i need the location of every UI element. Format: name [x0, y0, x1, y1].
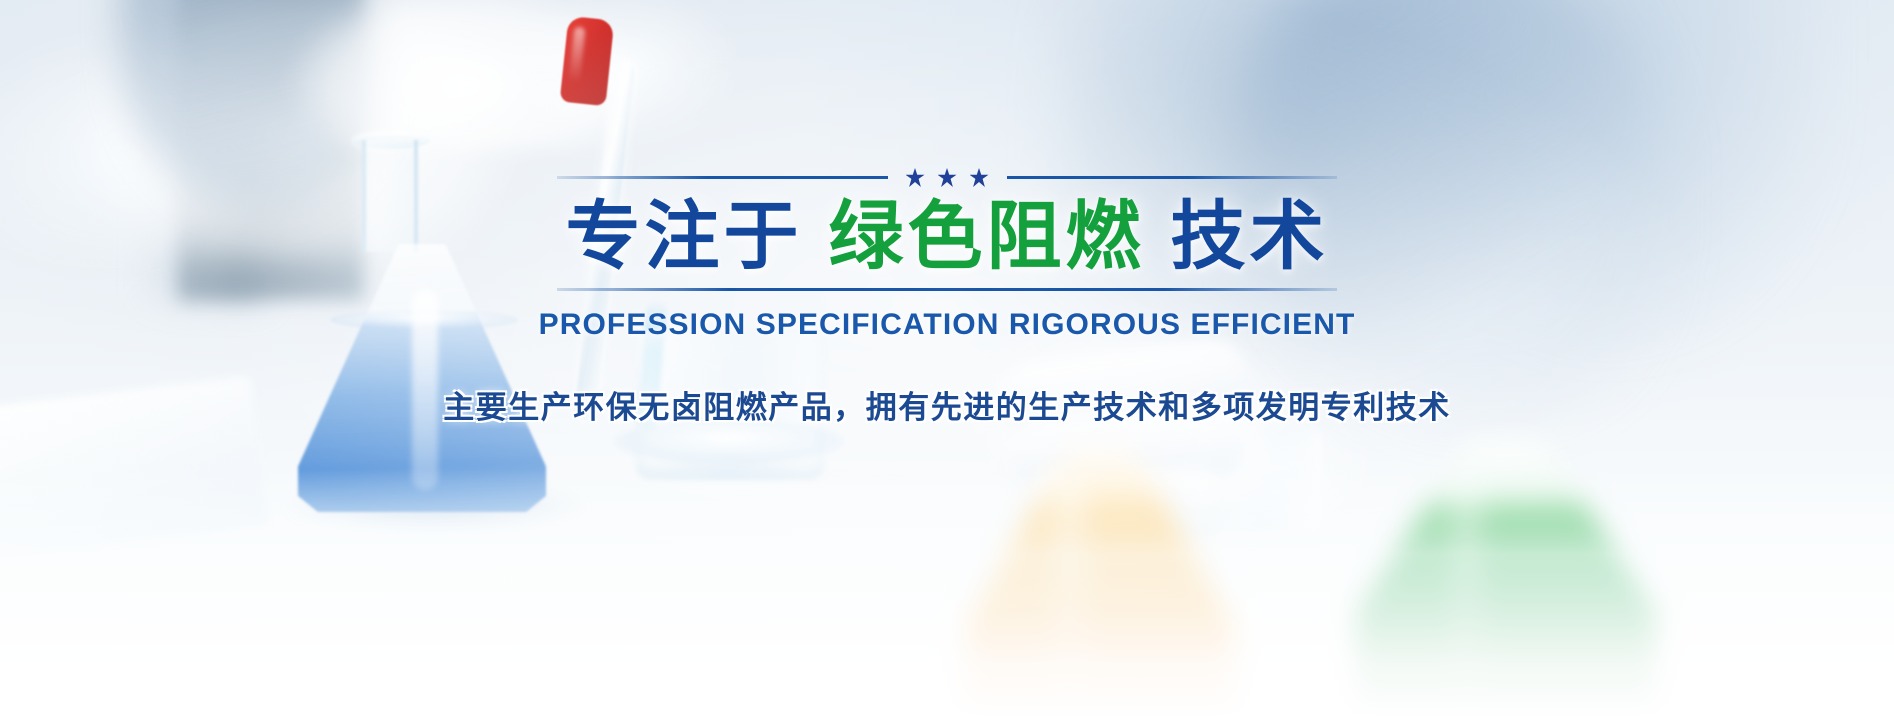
- divider-line-bottom: [557, 288, 1337, 291]
- pipette-red-bulb-icon: [560, 16, 615, 106]
- banner-content: 专注于绿色阻燃技术 PROFESSION SPECIFICATION RIGOR…: [0, 168, 1894, 427]
- divider-line-right: [1007, 176, 1338, 179]
- flask-orange-body: [966, 440, 1234, 719]
- headline-part-2: 绿色阻燃: [828, 194, 1144, 278]
- gloved-hand-top: [250, 0, 770, 150]
- subtitle-english: PROFESSION SPECIFICATION RIGOROUS EFFICI…: [0, 308, 1894, 342]
- star-group: [906, 168, 989, 187]
- flask-orange-highlight: [1054, 480, 1086, 710]
- headline-part-1: 专注于: [565, 194, 802, 278]
- star-icon: [906, 168, 925, 187]
- divider-line-left: [557, 176, 888, 179]
- star-icon: [970, 168, 989, 187]
- erlenmeyer-flask-orange: [966, 440, 1234, 719]
- divider-with-stars: [557, 168, 1337, 187]
- flask-green-body: [1356, 440, 1656, 719]
- erlenmeyer-flask-green: [1356, 440, 1656, 719]
- tagline-chinese: 主要生产环保无卤阻燃产品，拥有先进的生产技术和多项发明专利技术: [0, 382, 1894, 427]
- page-title: 专注于绿色阻燃技术: [0, 199, 1894, 274]
- hero-banner: 专注于绿色阻燃技术 PROFESSION SPECIFICATION RIGOR…: [0, 0, 1894, 719]
- headline-part-3: 技术: [1171, 194, 1329, 278]
- star-icon: [938, 168, 957, 187]
- flask-green-highlight: [1452, 480, 1482, 710]
